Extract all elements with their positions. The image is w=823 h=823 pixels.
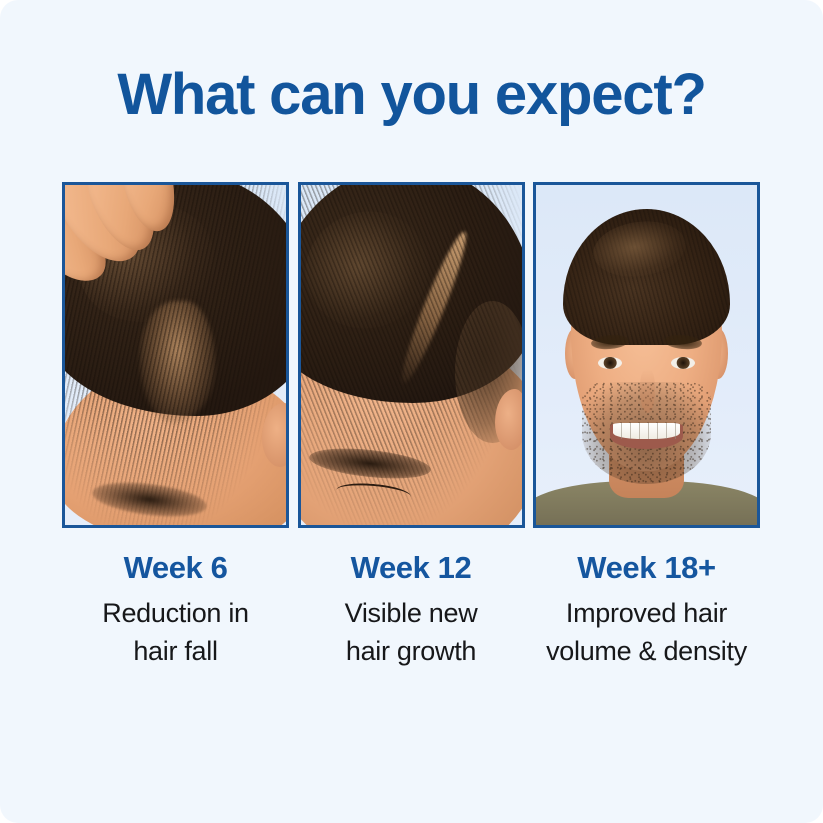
caption-week-12: Week 12 Visible new hair growth [298,548,525,670]
progress-image-week-18[interactable] [533,182,760,528]
iris-shape [677,357,690,369]
iris-shape [604,357,617,369]
caption-description: Improved hair volume & density [533,594,760,670]
expectations-card: What can you expect? [0,0,823,823]
smiling-mouth-shape [610,423,683,449]
caption-week-18: Week 18+ Improved hair volume & density [533,548,760,670]
progress-image-row [62,182,760,528]
teeth-gap-lines [613,423,680,439]
eye-shape [598,357,622,369]
caption-week-label: Week 12 [298,548,525,588]
progress-image-week-12[interactable] [298,182,525,528]
teeth-shape [613,423,680,439]
scalp-closeup-illustration [65,185,286,525]
caption-week-label: Week 18+ [533,548,760,588]
caption-week-6: Week 6 Reduction in hair fall [62,548,289,670]
eye-shape [671,357,695,369]
side-part-illustration [301,185,522,525]
caption-week-label: Week 6 [62,548,289,588]
caption-description: Reduction in hair fall [62,594,289,670]
page-title: What can you expect? [0,60,823,130]
progress-image-week-6[interactable] [62,182,289,528]
caption-row: Week 6 Reduction in hair fall Week 12 Vi… [62,548,760,670]
nose-shape [640,369,655,413]
caption-description: Visible new hair growth [298,594,525,670]
portrait-illustration [536,185,757,525]
